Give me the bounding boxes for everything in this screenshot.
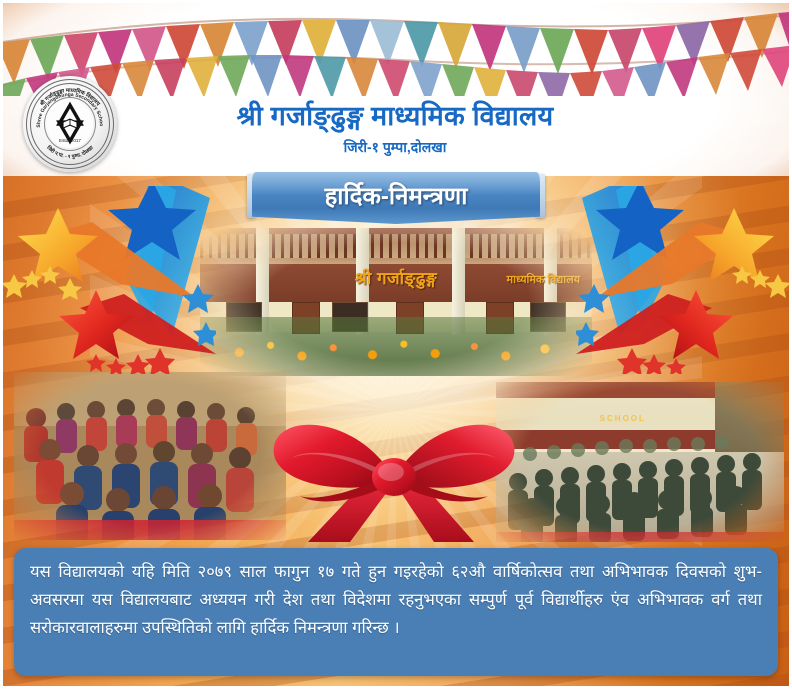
red-ribbon-bow xyxy=(252,392,536,544)
bunting-decoration xyxy=(0,0,792,96)
star-decoration-right xyxy=(576,186,792,374)
invitation-message-panel: यस विद्यालयको यहि मिति २०७९ साल फागुन १७… xyxy=(14,548,778,676)
invitation-message-text: यस विद्यालयको यहि मिति २०७९ साल फागुन १७… xyxy=(30,558,762,642)
banner-label: हार्दिक-निमन्त्रणा xyxy=(252,172,540,224)
building-facade-text-2: माध्यमिक विद्यालय xyxy=(507,272,580,287)
seal-english-text: Shree Garjangdhunga Secondary School xyxy=(23,76,104,128)
seal-address-text: जिरी न.पा. - १ पुम्पा, दोलखा xyxy=(45,144,96,160)
community-gathering-photo xyxy=(14,372,286,540)
school-logo-seal: श्री गर्जाङ्ढुङ्गा माध्यमिक विद्यालय Shr… xyxy=(23,76,117,172)
svg-text:जिरी न.पा. - १ पुम्पा, दोलखा: जिरी न.पा. - १ पुम्पा, दोलखा xyxy=(45,144,96,160)
invitation-card: श्री गर्जाङ्ढुङ्गा माध्यमिक विद्यालय Shr… xyxy=(0,0,792,689)
seal-established-text: Estd. 2017 xyxy=(59,138,81,143)
page-title: श्री गर्जाङ्ढुङ्ग माध्यमिक विद्यालय xyxy=(150,96,640,133)
school-address: जिरी-१ पुम्पा,दोलखा xyxy=(150,138,640,157)
school-building-photo: श्री गर्जाङ्ढुङ्ग माध्यमिक विद्यालय xyxy=(200,228,592,376)
student-assembly-photo: SCHOOL xyxy=(496,382,784,542)
star-decoration-left xyxy=(0,186,216,374)
svg-text:Shree Garjangdhunga Secondary: Shree Garjangdhunga Secondary School xyxy=(23,76,104,128)
invitation-banner: हार्दिक-निमन्त्रणा xyxy=(252,172,540,224)
